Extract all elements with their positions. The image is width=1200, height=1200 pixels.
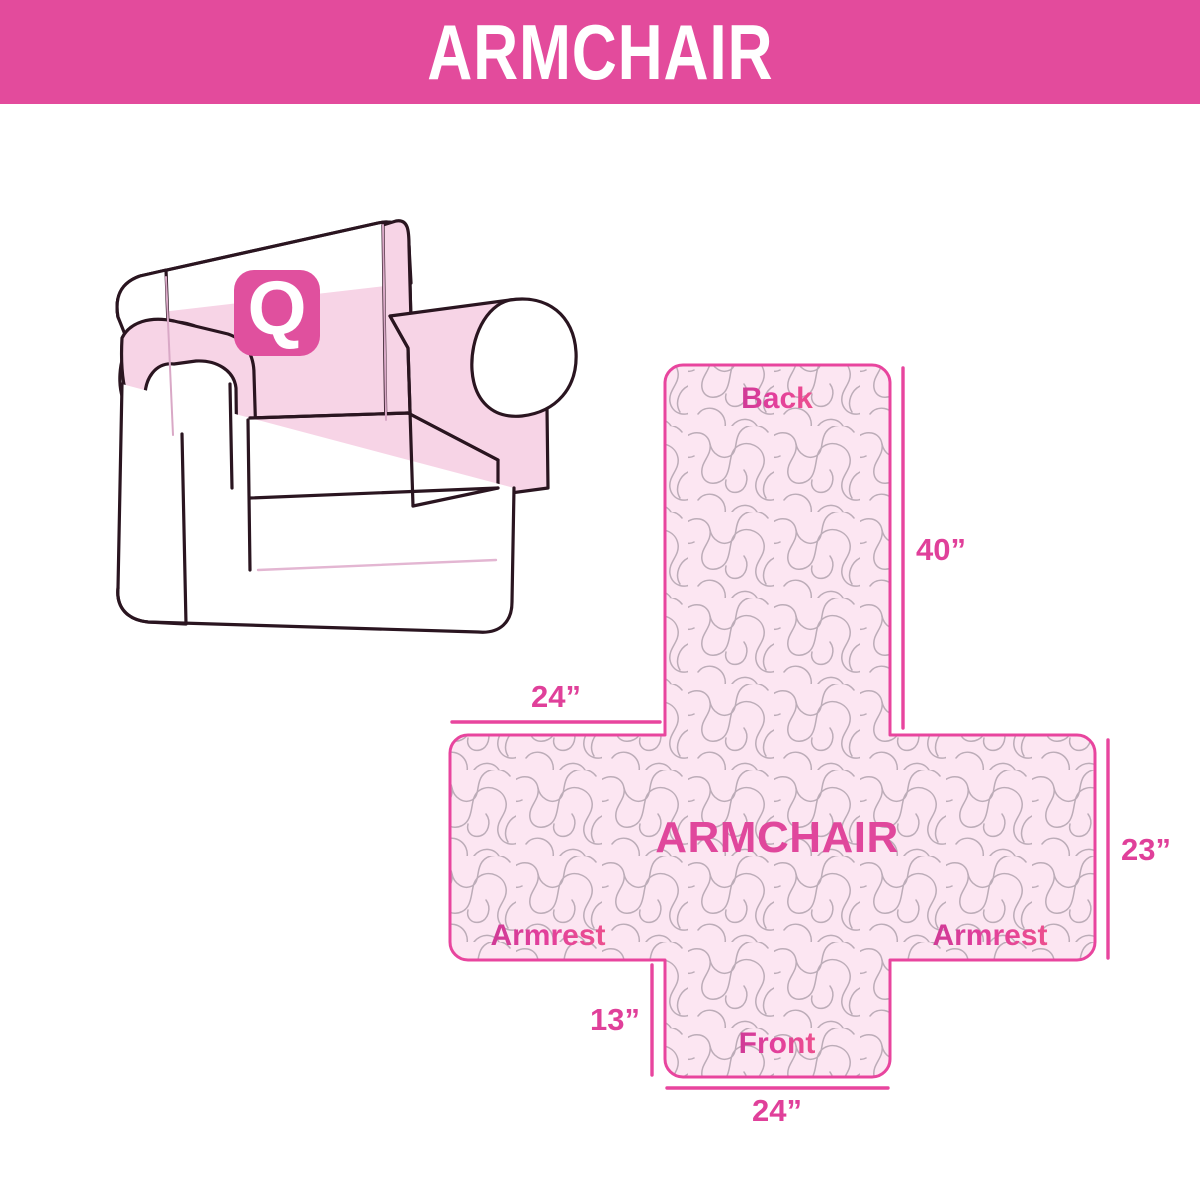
- panel-label-front: Front: [739, 1027, 816, 1060]
- dimension-label-front-width: 24”: [752, 1093, 802, 1128]
- panel-label-armrest-right: Armrest: [932, 919, 1047, 952]
- diagram-center-label: ARMCHAIR: [655, 813, 899, 862]
- chair-seat-left-seam: [248, 420, 250, 570]
- panel-label-back: Back: [741, 382, 813, 415]
- dimension-label-armrest-depth: 23”: [1121, 832, 1171, 867]
- header-banner: ARMCHAIR: [0, 0, 1200, 104]
- dimension-label-front-drop: 13”: [590, 1002, 640, 1037]
- dimension-label-back-length: 40”: [916, 532, 966, 567]
- chair-left-arm-inner-seam: [230, 384, 232, 488]
- product-dimension-graphic: ARMCHAIR: [0, 0, 1200, 1200]
- brand-logo: Q: [234, 266, 320, 356]
- cover-layout-diagram: Back Armrest Armrest Front ARMCHAIR 40” …: [430, 340, 1200, 1130]
- page-title: ARMCHAIR: [427, 13, 773, 91]
- panel-label-armrest-left: Armrest: [490, 919, 605, 952]
- logo-letter: Q: [247, 266, 306, 351]
- dimension-label-back-width: 24”: [531, 679, 581, 714]
